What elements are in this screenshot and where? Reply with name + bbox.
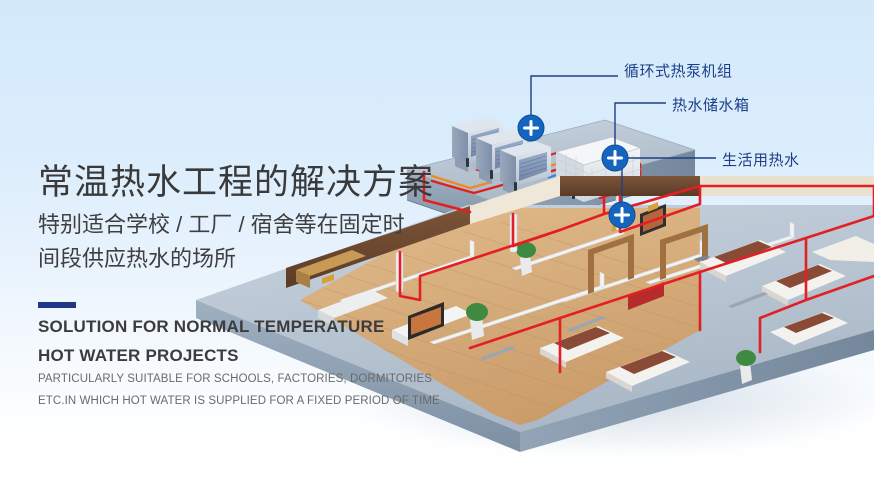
marker-hot-water-tank[interactable] [602, 145, 628, 171]
page-subtitle-line-1: 特别适合学校 / 工厂 / 宿舍等在固定时 [38, 210, 410, 240]
headline-block: 常温热水工程的解决方案 特别适合学校 / 工厂 / 宿舍等在固定时 间段供应热水… [38, 160, 458, 410]
english-subtitle-line-1: PARTICULARLY SUITABLE FOR SCHOOLS, FACTO… [38, 371, 458, 388]
marker-domestic-hot-water[interactable] [609, 202, 635, 228]
english-title-line-2: HOT WATER PROJECTS [38, 345, 458, 366]
callout-label-hot-water-tank: 热水储水箱 [672, 97, 750, 115]
callout-label-domestic-hot-water: 生活用热水 [722, 152, 800, 170]
english-title-line-1: SOLUTION FOR NORMAL TEMPERATURE [38, 316, 458, 337]
callout-label-heat-pump-unit: 循环式热泵机组 [624, 63, 733, 81]
marker-heat-pump-unit[interactable] [518, 115, 544, 141]
page-title: 常温热水工程的解决方案 [38, 160, 458, 206]
english-subtitle-line-2: ETC.IN WHICH HOT WATER IS SUPPLIED FOR A… [38, 393, 458, 410]
title-divider [38, 302, 76, 308]
promo-banner: 循环式热泵机组 热水储水箱 生活用热水 常温热水工程的解决方案 特别适合学校 /… [0, 0, 874, 480]
page-subtitle-line-2: 间段供应热水的场所 [38, 244, 410, 274]
